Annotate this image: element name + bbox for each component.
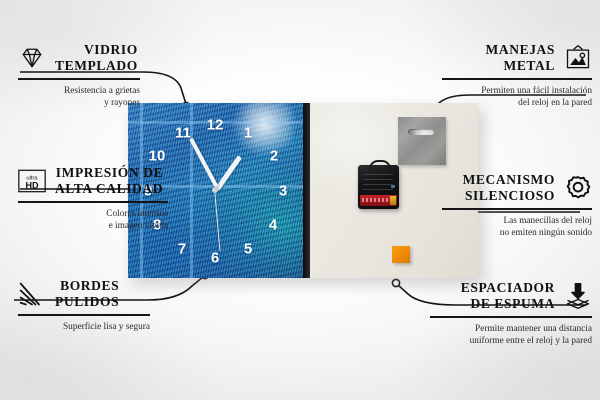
infographic-canvas: 12 1 2 3 4 5 6 7 8 9 10 11 bbox=[0, 0, 600, 400]
callout-rule bbox=[18, 78, 140, 80]
clock-edge bbox=[303, 103, 310, 278]
picture-hanger-icon bbox=[564, 44, 592, 72]
hanger-keyhole-slot bbox=[408, 129, 434, 135]
callout-desc-line2: del reloj en la pared bbox=[442, 97, 592, 110]
clock-numeral: 10 bbox=[149, 149, 166, 164]
metal-hanger-plate bbox=[398, 117, 446, 165]
callout-title-line2: TEMPLADO bbox=[55, 58, 138, 74]
callout-rule bbox=[18, 314, 150, 316]
callout-desc-line1: Las manecillas del reloj bbox=[442, 215, 592, 228]
ultra-hd-icon: ultra HD bbox=[18, 167, 46, 195]
callout-desc-line1: Colores intensos bbox=[18, 208, 168, 221]
movement-hook bbox=[369, 160, 391, 171]
clock-numeral: 1 bbox=[244, 126, 252, 141]
clock-second-hand bbox=[214, 189, 221, 251]
callout-desc-line2: no emiten ningún sonido bbox=[442, 227, 592, 240]
callout-vidrio-templado: VIDRIO TEMPLADO Resistencia a grietas y … bbox=[18, 42, 140, 110]
clock-numeral: 4 bbox=[269, 218, 277, 233]
callout-title-line2: ALTA CALIDAD bbox=[55, 181, 163, 197]
callout-desc-line1: Permiten una fácil instalación bbox=[442, 85, 592, 98]
clock-numeral: 6 bbox=[211, 251, 219, 266]
callout-desc-line2: e imagen vívida bbox=[18, 220, 168, 233]
callout-title-line1: BORDES bbox=[55, 278, 119, 294]
callout-espaciador-espuma: ESPACIADOR DE ESPUMA Permite mantener un… bbox=[430, 280, 592, 348]
diamond-icon bbox=[18, 44, 46, 72]
callout-rule bbox=[430, 316, 592, 318]
callout-rule bbox=[18, 201, 168, 203]
callout-rule bbox=[442, 208, 592, 210]
quartz-movement bbox=[358, 165, 399, 209]
foam-spacer bbox=[392, 246, 410, 263]
callout-title-line2: PULIDOS bbox=[55, 294, 119, 310]
clock-numeral: 2 bbox=[270, 149, 278, 164]
clock-numeral: 12 bbox=[207, 118, 224, 133]
callout-desc-line1: Superficie lisa y segura bbox=[18, 321, 150, 334]
callout-desc-line2: y rayones bbox=[18, 97, 140, 110]
clock-numeral: 7 bbox=[178, 242, 186, 257]
clock-numeral: 5 bbox=[244, 242, 252, 257]
callout-title-line1: VIDRIO bbox=[55, 42, 138, 58]
clock-center-pin bbox=[212, 187, 218, 193]
callout-bordes-pulidos: BORDES PULIDOS Superficie lisa y segura bbox=[18, 278, 150, 333]
callout-impresion-alta-calidad: ultra HD IMPRESIÓN DE ALTA CALIDAD Color… bbox=[18, 165, 168, 233]
callout-title-line1: IMPRESIÓN DE bbox=[55, 165, 163, 181]
callout-rule bbox=[442, 78, 592, 80]
callout-title-line1: MECANISMO bbox=[442, 172, 555, 188]
clock-minute-hand bbox=[189, 138, 218, 188]
clock-numeral: 11 bbox=[175, 126, 191, 141]
callout-title-line2: DE ESPUMA bbox=[430, 296, 555, 312]
beveled-edge-icon bbox=[18, 280, 46, 308]
battery bbox=[360, 195, 397, 206]
callout-manejas-metal: MANEJAS METAL Permiten una fácil instala… bbox=[442, 42, 592, 110]
callout-desc-line1: Permite mantener una distancia bbox=[430, 323, 592, 336]
gear-icon bbox=[564, 174, 592, 202]
callout-title-line1: MANEJAS bbox=[442, 42, 555, 58]
callout-title-line1: ESPACIADOR bbox=[430, 280, 555, 296]
callout-desc-line1: Resistencia a grietas bbox=[18, 85, 140, 98]
callout-mecanismo-silencioso: MECANISMO SILENCIOSO Las manecillas del … bbox=[442, 172, 592, 240]
callout-title-line2: METAL bbox=[442, 58, 555, 74]
callout-title-line2: SILENCIOSO bbox=[442, 188, 555, 204]
clock-numeral: 3 bbox=[279, 184, 287, 199]
product-image: 12 1 2 3 4 5 6 7 8 9 10 11 bbox=[128, 103, 478, 278]
foam-spacer-icon bbox=[564, 282, 592, 310]
svg-text:HD: HD bbox=[25, 180, 39, 190]
callout-desc-line2: uniforme entre el reloj y la pared bbox=[430, 335, 592, 348]
